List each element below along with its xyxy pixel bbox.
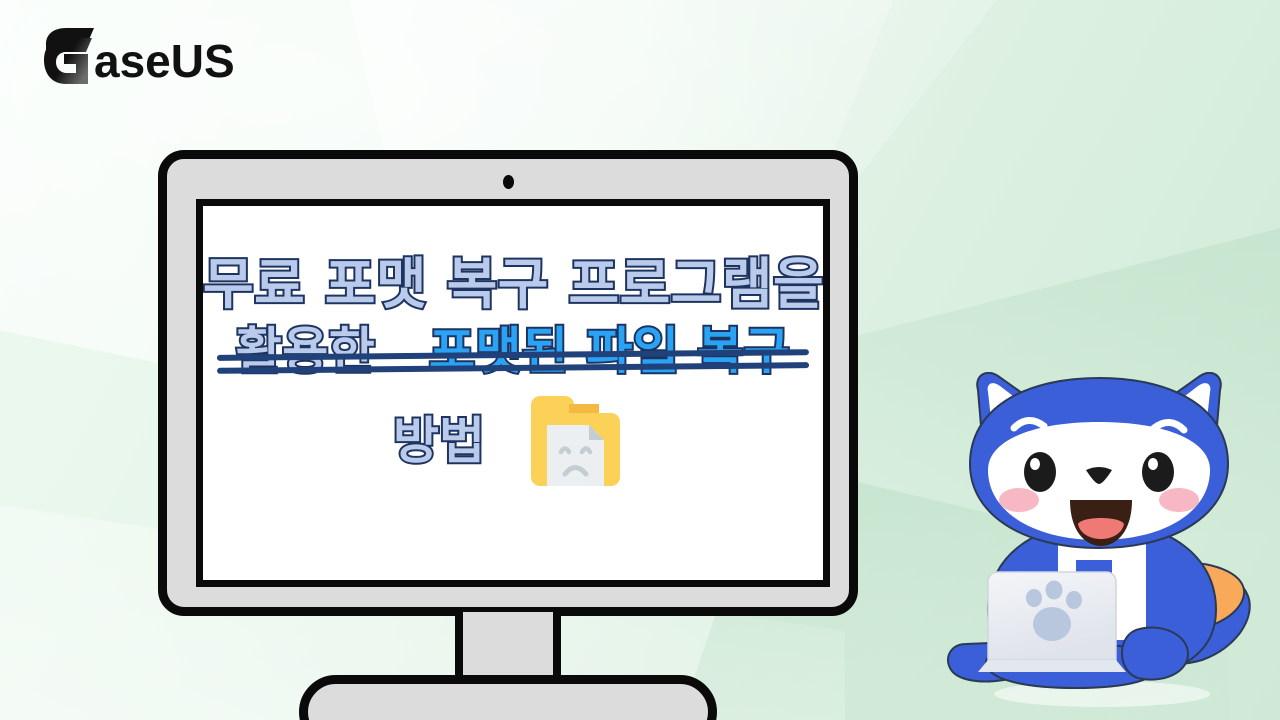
screen-content: 무료 포맷 복구 프로그램을 활용한 포맷된 파일 복구 방법	[203, 206, 823, 580]
monitor-stand-base	[299, 675, 717, 720]
fox-laptop	[978, 560, 1126, 672]
easeus-fox-mascot	[930, 372, 1274, 720]
monitor-bezel: 무료 포맷 복구 프로그램을 활용한 포맷된 파일 복구 방법	[158, 150, 858, 616]
easeus-logo: aseUS	[36, 26, 236, 88]
monitor-stand-neck	[455, 612, 561, 682]
headline-line-3: 방법	[393, 415, 485, 467]
easeus-e-mark	[44, 28, 94, 84]
webcam-dot-icon	[503, 175, 514, 189]
monitor-screen: 무료 포맷 복구 프로그램을 활용한 포맷된 파일 복구 방법	[196, 199, 830, 587]
banner-canvas: aseUS 무료 포맷 복구 프로그램을 활용한 포맷된 파일 복구 방법	[0, 0, 1280, 720]
desktop-monitor: 무료 포맷 복구 프로그램을 활용한 포맷된 파일 복구 방법	[158, 150, 858, 720]
fox-eye-right	[1142, 452, 1174, 492]
fox-cheek-right	[1159, 488, 1199, 512]
fox-cheek-left	[999, 488, 1039, 512]
headline-line-1: 무료 포맷 복구 프로그램을	[203, 256, 823, 313]
fox-eye-left	[1024, 452, 1056, 492]
headline-line-3-row: 방법	[203, 389, 823, 493]
sad-file-folder-icon	[525, 389, 633, 493]
logo-wordmark: aseUS	[94, 35, 235, 87]
fox-head	[970, 373, 1228, 548]
